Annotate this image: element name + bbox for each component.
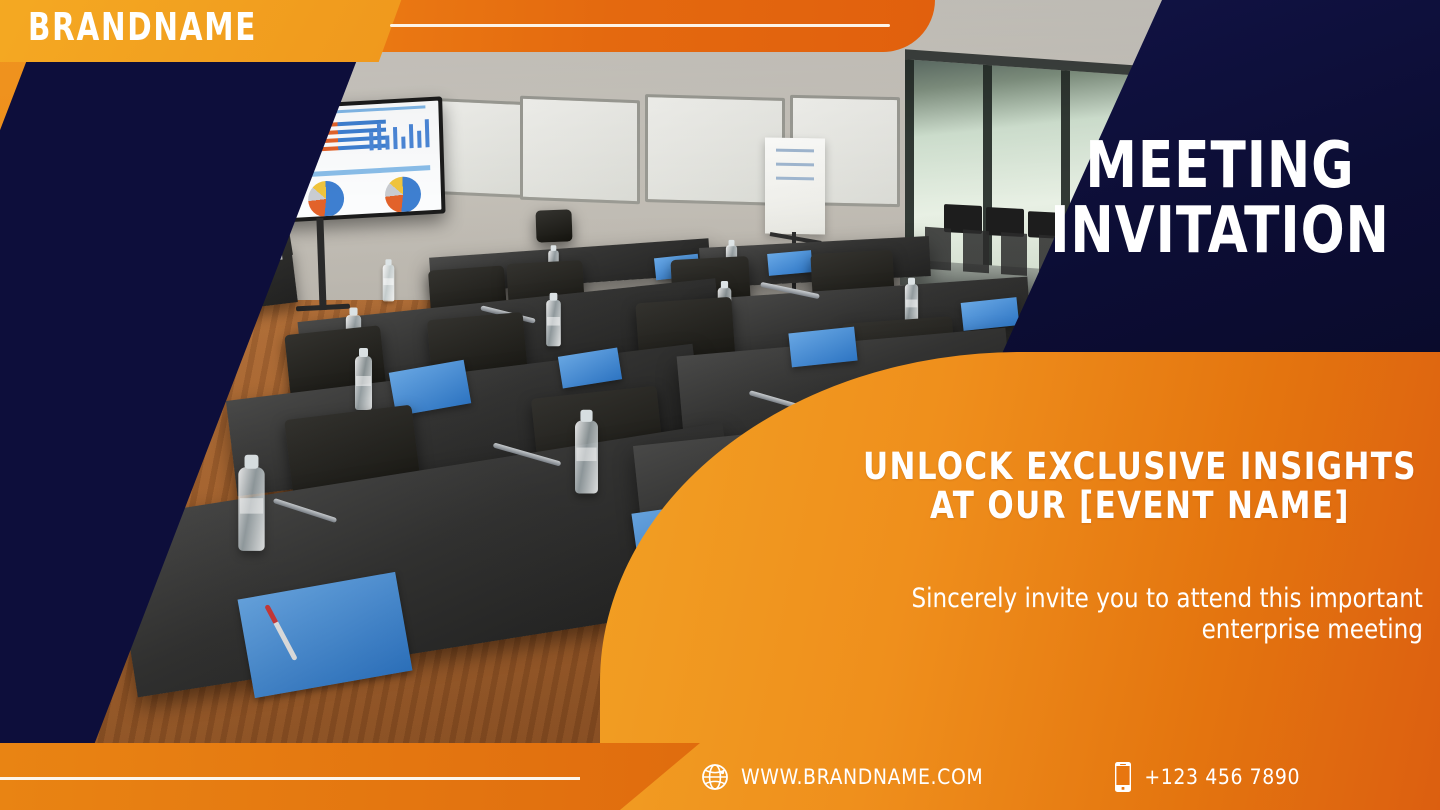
- title-line-2: INVITATION: [1022, 201, 1418, 262]
- title-line-1: MEETING: [1022, 136, 1418, 197]
- footer-contacts: WWW.BRANDNAME.COM +123 456 7890: [690, 743, 1440, 810]
- page-title: MEETING INVITATION: [1000, 136, 1440, 263]
- invitation-poster: MEETING INVITATION UNLOCK EXCLUSIVE INSI…: [0, 0, 1440, 810]
- subtitle: Sincerely invite you to attend this impo…: [775, 583, 1440, 646]
- header-rule: [390, 24, 890, 27]
- footer-rule: [0, 777, 580, 780]
- headline: UNLOCK EXCLUSIVE INSIGHTS AT OUR [EVENT …: [840, 448, 1440, 526]
- brand-logo: BRANDNAME: [28, 8, 257, 46]
- subtitle-line-2: enterprise meeting: [775, 614, 1423, 645]
- website-text: WWW.BRANDNAME.COM: [741, 765, 983, 789]
- phone-contact[interactable]: +123 456 7890: [1113, 761, 1300, 793]
- globe-icon: [700, 762, 730, 792]
- headline-line-2: AT OUR [EVENT NAME]: [861, 487, 1419, 526]
- subtitle-line-1: Sincerely invite you to attend this impo…: [775, 583, 1423, 614]
- headline-line-1: UNLOCK EXCLUSIVE INSIGHTS: [861, 448, 1419, 487]
- website-contact[interactable]: WWW.BRANDNAME.COM: [700, 762, 983, 792]
- mobile-phone-icon: [1113, 761, 1133, 793]
- phone-text: +123 456 7890: [1144, 765, 1300, 789]
